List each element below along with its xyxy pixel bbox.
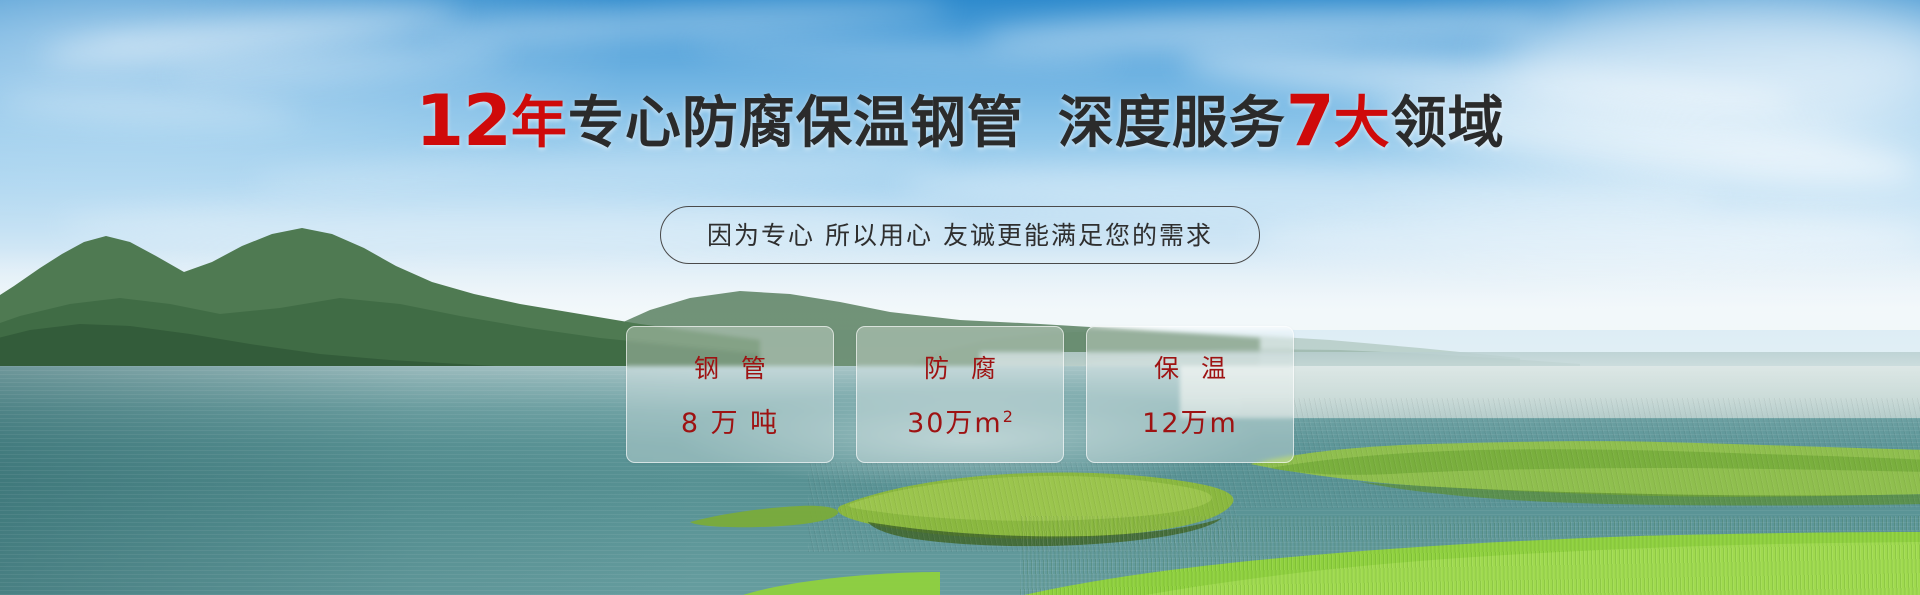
- headline-years-number: 12: [415, 80, 510, 162]
- grass-lawn-foreground: [1020, 516, 1920, 595]
- subtitle-pill: 因为专心 所以用心 友诚更能满足您的需求: [660, 206, 1260, 264]
- stat-card-value: 12万m: [1142, 401, 1238, 440]
- headline-years-suffix: 年: [511, 91, 568, 156]
- grass-tuft-left: [740, 556, 940, 595]
- subtitle-wrapper: 因为专心 所以用心 友诚更能满足您的需求: [0, 206, 1920, 264]
- headline-fields-unit: 大: [1334, 91, 1391, 156]
- stat-card-label: 防 腐: [917, 349, 1003, 385]
- headline-part-two: 深度服务: [1058, 91, 1286, 156]
- headline-part-three: 领域: [1391, 91, 1505, 156]
- stat-card-value: 30万m2: [907, 401, 1013, 440]
- headline-part-one: 专心防腐保温钢管: [568, 91, 1024, 156]
- page-title: 12年专心防腐保温钢管深度服务7大领域: [0, 86, 1920, 156]
- hero-banner: 12年专心防腐保温钢管深度服务7大领域 因为专心 所以用心 友诚更能满足您的需求…: [0, 0, 1920, 595]
- stat-card-steel-pipe[interactable]: 钢 管 8 万 吨: [626, 326, 834, 463]
- stat-card-unit-exponent: 2: [1003, 407, 1013, 426]
- stat-card-label: 钢 管: [687, 349, 773, 385]
- stat-card-anticorrosion[interactable]: 防 腐 30万m2: [856, 326, 1064, 463]
- stat-card-label: 保 温: [1147, 349, 1233, 385]
- stat-card-group: 钢 管 8 万 吨 防 腐 30万m2 保 温 12万m: [0, 326, 1920, 463]
- stat-card-value: 8 万 吨: [681, 401, 779, 440]
- stat-card-insulation[interactable]: 保 温 12万m: [1086, 326, 1294, 463]
- headline-fields-number: 7: [1286, 80, 1334, 162]
- grass-spit-small: [690, 496, 840, 530]
